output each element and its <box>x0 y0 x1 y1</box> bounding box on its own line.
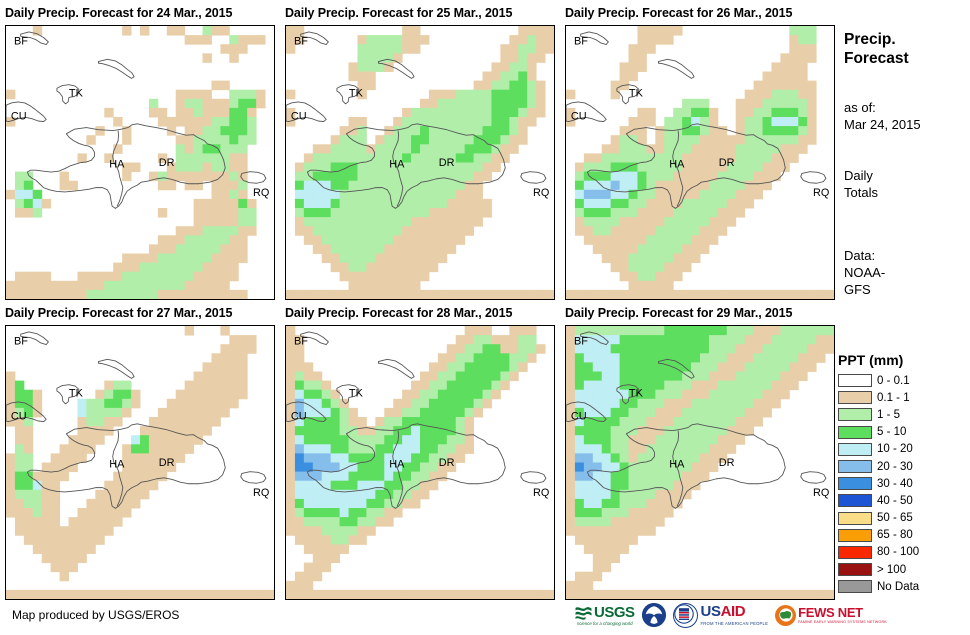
legend-row: 40 - 50 <box>838 492 970 509</box>
legend-row: 0.1 - 1 <box>838 389 970 406</box>
legend-row: No Data <box>838 578 970 595</box>
sidebar-totals: Daily Totals <box>844 168 878 202</box>
precip-cells <box>566 26 834 299</box>
panel-title: Daily Precip. Forecast for 25 Mar., 2015 <box>285 6 512 20</box>
country-label-bf: BF <box>574 335 588 347</box>
country-label-tk: TK <box>69 87 84 99</box>
legend-swatch <box>838 443 872 456</box>
country-label-rq: RQ <box>253 187 269 199</box>
logo-bar: USGS science for a changing world <box>575 600 887 630</box>
legend-title: PPT (mm) <box>838 352 970 368</box>
legend-entries: 0 - 0.10.1 - 11 - 55 - 1010 - 2020 - 303… <box>838 372 970 595</box>
country-label-dr: DR <box>159 157 175 169</box>
legend-swatch <box>838 512 872 525</box>
legend-row: 10 - 20 <box>838 441 970 458</box>
fews-net-logo: FEWS NET FAMINE EARLY WARNING SYSTEMS NE… <box>775 602 887 628</box>
country-label-dr: DR <box>719 157 735 169</box>
noaa-logo <box>642 602 666 628</box>
country-label-rq: RQ <box>813 487 829 499</box>
country-label-tk: TK <box>349 87 364 99</box>
legend-label: 20 - 30 <box>877 461 913 473</box>
country-label-cu: CU <box>11 111 27 123</box>
country-label-dr: DR <box>719 457 735 469</box>
coastline-pr <box>241 472 266 484</box>
panel-title: Daily Precip. Forecast for 28 Mar., 2015 <box>285 306 512 320</box>
precip-cells <box>566 326 834 599</box>
fews-wordmark: FEWS NET <box>798 606 887 619</box>
country-label-tk: TK <box>629 387 644 399</box>
precip-cells <box>286 26 554 299</box>
legend-label: 5 - 10 <box>877 426 906 438</box>
country-label-cu: CU <box>11 411 27 423</box>
legend-label: 0 - 0.1 <box>877 375 910 387</box>
legend-label: 65 - 80 <box>877 529 913 541</box>
coastline-bahamas_e <box>658 59 694 78</box>
legend-row: 20 - 30 <box>838 458 970 475</box>
legend-swatch <box>838 391 872 404</box>
usaid-seal-icon <box>673 603 698 628</box>
panel-title: Daily Precip. Forecast for 29 Mar., 2015 <box>565 306 792 320</box>
sidebar-title-line2: Forecast <box>844 49 909 68</box>
sidebar-data-source: Data: NOAA- GFS <box>844 248 885 299</box>
sidebar-totals-line1: Daily <box>844 168 878 185</box>
country-label-dr: DR <box>159 457 175 469</box>
usgs-logo: USGS science for a changing world <box>575 602 635 628</box>
coastline-bahamas_e <box>98 59 134 78</box>
country-label-bf: BF <box>574 35 588 47</box>
country-label-bf: BF <box>14 335 28 347</box>
coastline-bahamas_e <box>378 359 414 378</box>
legend-swatch <box>838 563 872 576</box>
sidebar-title: Precip. Forecast <box>844 30 909 69</box>
legend-row: 65 - 80 <box>838 527 970 544</box>
legend-swatch <box>838 460 872 473</box>
legend: PPT (mm) 0 - 0.10.1 - 11 - 55 - 1010 - 2… <box>838 352 970 595</box>
legend-swatch <box>838 408 872 421</box>
country-label-ha: HA <box>669 158 685 170</box>
map-credit: Map produced by USGS/EROS <box>12 608 179 622</box>
legend-row: 5 - 10 <box>838 424 970 441</box>
coastline-pr <box>801 472 826 484</box>
legend-label: 0.1 - 1 <box>877 392 910 404</box>
precip-raster: BFTKCUHADRRQ <box>566 326 834 599</box>
fews-globe-icon <box>775 605 796 626</box>
legend-swatch <box>838 426 872 439</box>
sidebar-asof-date: Mar 24, 2015 <box>844 117 921 134</box>
country-label-rq: RQ <box>533 187 549 199</box>
legend-swatch <box>838 580 872 593</box>
usaid-logo: USAID FROM THE AMERICAN PEOPLE <box>673 602 769 628</box>
coastline-pr <box>521 172 546 184</box>
legend-row: 80 - 100 <box>838 544 970 561</box>
sidebar-title-line1: Precip. <box>844 30 909 49</box>
sidebar-data-line1: NOAA- <box>844 265 885 282</box>
sidebar-asof: as of: Mar 24, 2015 <box>844 100 921 134</box>
legend-label: 10 - 20 <box>877 443 913 455</box>
precip-raster: BFTKCUHADRRQ <box>6 326 274 599</box>
country-label-cu: CU <box>291 411 307 423</box>
usgs-wave-icon <box>575 605 592 620</box>
legend-swatch <box>838 477 872 490</box>
usgs-tagline: science for a changing world <box>577 621 633 626</box>
map-panel[interactable]: BFTKCUHADRRQ <box>5 25 275 300</box>
country-label-bf: BF <box>294 335 308 347</box>
map-panel[interactable]: BFTKCUHADRRQ <box>565 325 835 600</box>
country-label-cu: CU <box>571 111 587 123</box>
country-label-ha: HA <box>109 158 125 170</box>
country-label-rq: RQ <box>533 487 549 499</box>
map-panel[interactable]: BFTKCUHADRRQ <box>5 325 275 600</box>
coastline-pr <box>801 172 826 184</box>
country-label-tk: TK <box>349 387 364 399</box>
country-label-ha: HA <box>109 458 125 470</box>
usaid-wordmark: USAID <box>701 604 769 619</box>
country-label-dr: DR <box>439 157 455 169</box>
legend-swatch <box>838 374 872 387</box>
country-label-tk: TK <box>69 387 84 399</box>
legend-label: 40 - 50 <box>877 495 913 507</box>
noaa-badge-icon <box>642 603 666 627</box>
country-label-cu: CU <box>571 411 587 423</box>
country-label-bf: BF <box>294 35 308 47</box>
sidebar-data-label: Data: <box>844 248 885 265</box>
legend-label: 50 - 65 <box>877 512 913 524</box>
panel-title: Daily Precip. Forecast for 27 Mar., 2015 <box>5 306 232 320</box>
country-label-bf: BF <box>14 35 28 47</box>
precip-raster: BFTKCUHADRRQ <box>286 26 554 299</box>
legend-swatch <box>838 546 872 559</box>
precip-cells <box>6 26 266 299</box>
usaid-tagline: FROM THE AMERICAN PEOPLE <box>701 621 769 626</box>
country-label-dr: DR <box>439 457 455 469</box>
precip-raster: BFTKCUHADRRQ <box>566 26 834 299</box>
country-label-ha: HA <box>389 458 405 470</box>
country-label-ha: HA <box>389 158 405 170</box>
legend-label: 1 - 5 <box>877 409 900 421</box>
country-label-rq: RQ <box>253 487 269 499</box>
country-label-tk: TK <box>629 87 644 99</box>
usgs-wordmark: USGS <box>594 605 635 620</box>
panel-title: Daily Precip. Forecast for 24 Mar., 2015 <box>5 6 232 20</box>
country-label-cu: CU <box>291 111 307 123</box>
legend-label: 30 - 40 <box>877 478 913 490</box>
usaid-shield-icon <box>674 604 694 624</box>
map-panel[interactable]: BFTKCUHADRRQ <box>565 25 835 300</box>
country-label-ha: HA <box>669 458 685 470</box>
sidebar-data-line2: GFS <box>844 282 885 299</box>
legend-row: 50 - 65 <box>838 510 970 527</box>
legend-row: 0 - 0.1 <box>838 372 970 389</box>
sidebar-asof-label: as of: <box>844 100 921 117</box>
precip-raster: BFTKCUHADRRQ <box>6 26 274 299</box>
legend-swatch <box>838 529 872 542</box>
precip-cells <box>286 326 554 599</box>
legend-row: 30 - 40 <box>838 475 970 492</box>
legend-row: 1 - 5 <box>838 406 970 423</box>
precip-cells <box>6 326 274 599</box>
coastline-bahamas_e <box>98 359 134 378</box>
legend-label: No Data <box>877 581 919 593</box>
legend-label: > 100 <box>877 564 906 576</box>
legend-label: 80 - 100 <box>877 546 919 558</box>
country-label-rq: RQ <box>813 187 829 199</box>
fews-tagline: FAMINE EARLY WARNING SYSTEMS NETWORK <box>798 620 887 624</box>
precip-raster: BFTKCUHADRRQ <box>286 326 554 599</box>
fews-earth-icon <box>776 605 796 625</box>
coastline-pr <box>521 472 546 484</box>
noaa-bird-icon <box>642 603 666 627</box>
map-panel[interactable]: BFTKCUHADRRQ <box>285 325 555 600</box>
legend-row: > 100 <box>838 561 970 578</box>
map-panel[interactable]: BFTKCUHADRRQ <box>285 25 555 300</box>
legend-swatch <box>838 494 872 507</box>
sidebar-totals-line2: Totals <box>844 185 878 202</box>
panel-title: Daily Precip. Forecast for 26 Mar., 2015 <box>565 6 792 20</box>
